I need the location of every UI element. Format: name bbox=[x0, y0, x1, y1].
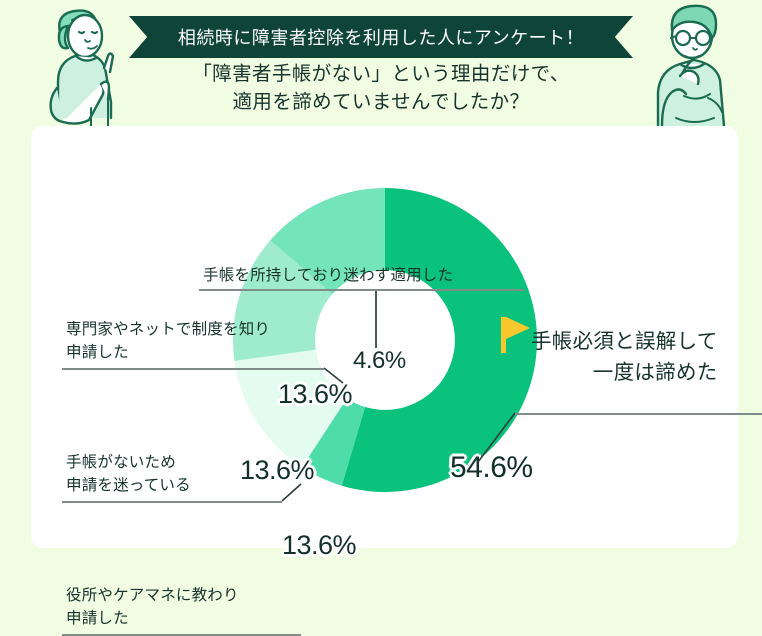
label-lower-left: 役所やケアマネに教わり 申請した bbox=[66, 584, 239, 630]
label-mid-left: 手帳がないため 申請を迷っている bbox=[66, 451, 191, 497]
page-title-line2: 適用を諦めていませんでしたか？ bbox=[0, 88, 762, 116]
label-lower-left-line2: 申請した bbox=[66, 607, 239, 630]
label-upper-left-line2: 申請した bbox=[66, 341, 270, 364]
banner-ribbon-shape: 相続時に障害者控除を利用した人にアンケート！ bbox=[129, 16, 633, 58]
label-mid-left-rule bbox=[62, 501, 282, 503]
highlight-callout: 手帳必須と誤解して 一度は諦めた bbox=[531, 326, 718, 388]
label-top: 手帳を所持しており迷わず適用した bbox=[203, 264, 453, 287]
flag-icon bbox=[498, 315, 532, 355]
highlight-callout-rule bbox=[515, 413, 762, 415]
label-top-text: 手帳を所持しており迷わず適用した bbox=[203, 264, 453, 287]
label-upper-left-line1: 専門家やネットで制度を知り bbox=[66, 318, 270, 341]
page-title: 「障害者手帳がない」という理由だけで、 適用を諦めていませんでしたか？ bbox=[0, 60, 762, 116]
banner-ribbon: 相続時に障害者控除を利用した人にアンケート！ bbox=[129, 16, 633, 58]
chart-card: 54.6% 4.6% 13.6% 13.6% 13.6% 手帳を所持しており迷わ… bbox=[31, 126, 738, 548]
label-upper-left: 専門家やネットで制度を知り 申請した bbox=[66, 318, 270, 364]
label-mid-left-line2: 申請を迷っている bbox=[66, 474, 191, 497]
page-title-line1: 「障害者手帳がない」という理由だけで、 bbox=[0, 60, 762, 88]
label-upper-left-rule bbox=[62, 368, 324, 370]
label-lower-left-rule bbox=[62, 634, 301, 636]
banner-text: 相続時に障害者控除を利用した人にアンケート！ bbox=[178, 24, 584, 50]
highlight-callout-line2: 一度は諦めた bbox=[531, 357, 718, 388]
label-lower-left-line1: 役所やケアマネに教わり bbox=[66, 584, 239, 607]
label-mid-left-line1: 手帳がないため bbox=[66, 451, 191, 474]
label-top-rule bbox=[199, 289, 524, 291]
highlight-callout-line1: 手帳必須と誤解して bbox=[531, 326, 718, 357]
